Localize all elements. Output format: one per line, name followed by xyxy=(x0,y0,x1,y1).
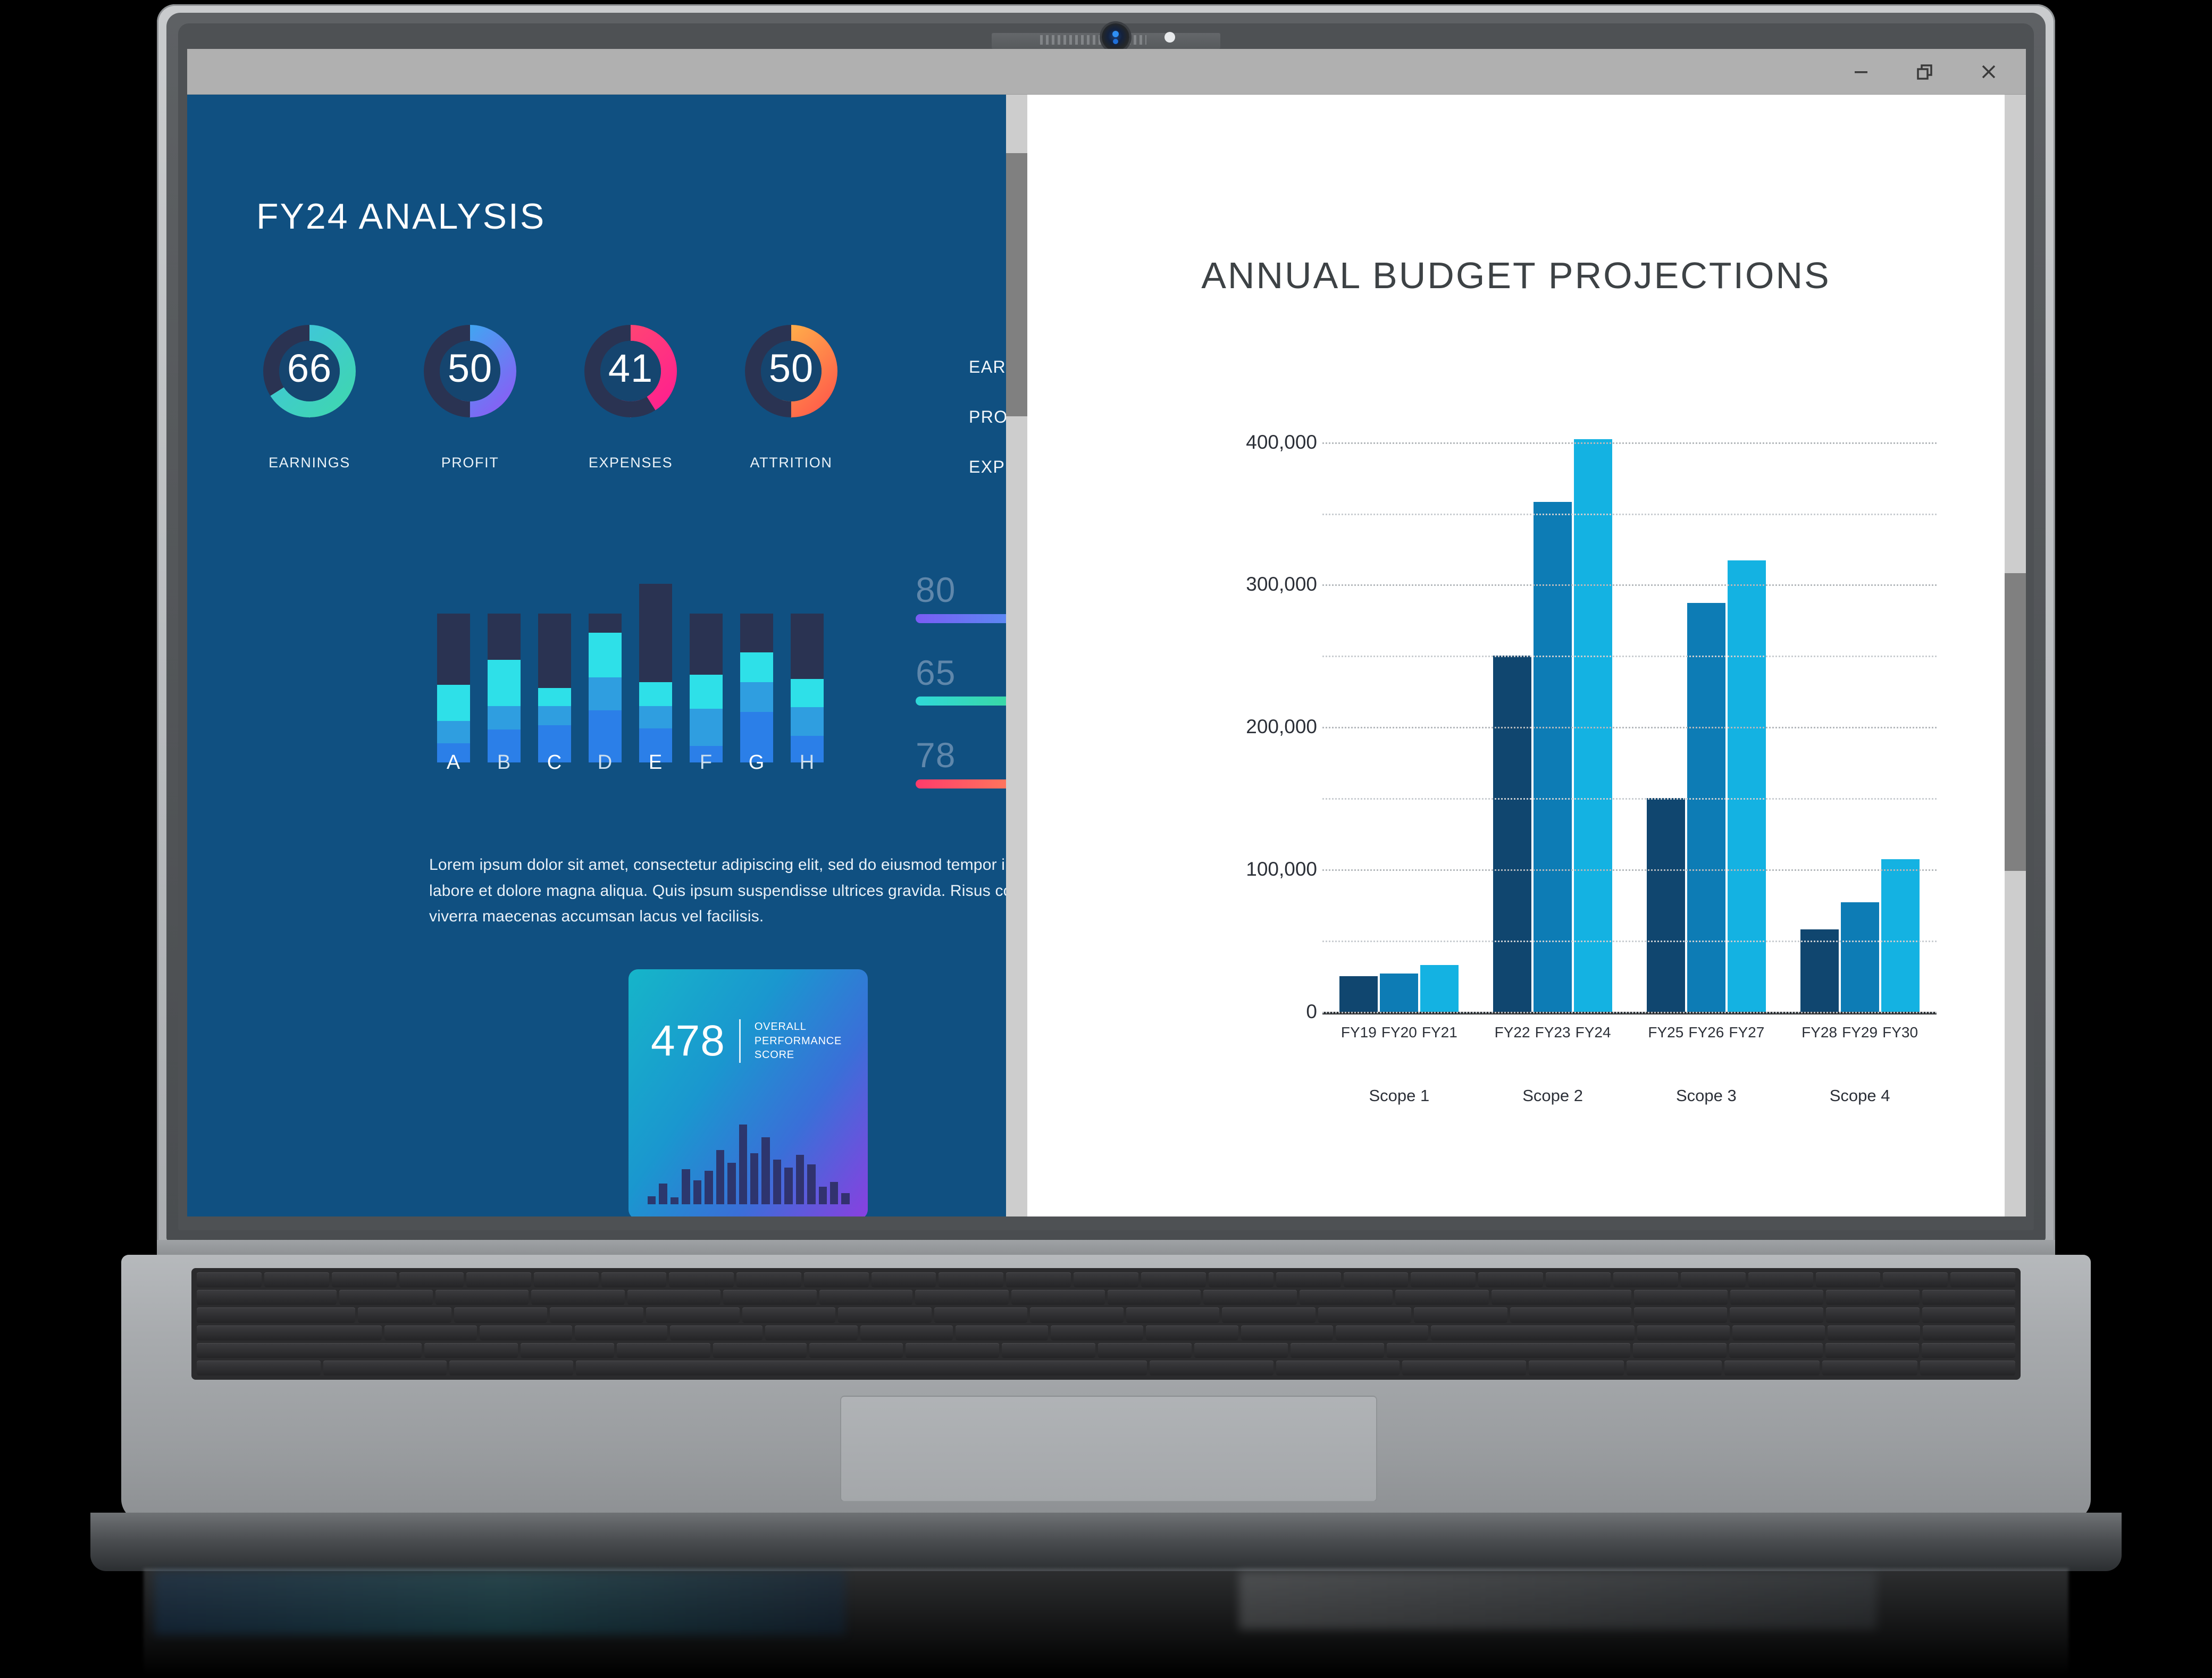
bar-FY24 xyxy=(1574,439,1612,1012)
score-sparkline xyxy=(648,1125,850,1204)
keyboard-key[interactable] xyxy=(1730,1290,1824,1305)
bar-group xyxy=(1476,414,1630,1012)
stacked-bar-column xyxy=(538,614,571,762)
stacked-bar-segment xyxy=(690,709,723,746)
keyboard-row xyxy=(197,1290,2015,1305)
gridline-major xyxy=(1322,1012,1937,1013)
metric-progress-bar xyxy=(916,697,1006,706)
keyboard-key[interactable] xyxy=(1141,1272,1206,1287)
keyboard-key[interactable] xyxy=(1816,1272,1881,1287)
laptop-screen: FY24 ANALYSIS 66EARNINGS50PROFIT41EXPENS… xyxy=(187,49,2026,1216)
keyboard-key[interactable] xyxy=(197,1343,422,1358)
keyboard-key[interactable] xyxy=(939,1272,1003,1287)
screenshot-stage: FY24 ANALYSIS 66EARNINGS50PROFIT41EXPENS… xyxy=(0,0,2212,1678)
keyboard-key[interactable] xyxy=(1108,1290,1201,1305)
keyboard-key[interactable] xyxy=(956,1325,1048,1340)
metric-bar-list: 806578 xyxy=(916,573,1006,821)
keyboard-key[interactable] xyxy=(713,1343,807,1358)
keyboard-key[interactable] xyxy=(197,1325,382,1340)
y-axis-tick-label: 400,000 xyxy=(1246,431,1317,454)
keyboard-key[interactable] xyxy=(1395,1290,1489,1305)
keyboard-key[interactable] xyxy=(1002,1343,1095,1358)
stacked-bar-segment xyxy=(639,706,672,728)
gridline-minor xyxy=(1322,514,1937,515)
bar-FY23 xyxy=(1534,502,1572,1012)
stacked-bar-column xyxy=(488,614,521,762)
keyboard-key[interactable] xyxy=(1634,1290,1728,1305)
stacked-bar-segment xyxy=(437,721,470,743)
keyboard-key[interactable] xyxy=(575,1325,667,1340)
keyboard-key[interactable] xyxy=(1126,1307,1220,1322)
gauge-attrition: 50ATTRITION xyxy=(733,318,850,471)
sparkline-bar xyxy=(761,1137,769,1204)
stacked-bar-segment xyxy=(589,677,622,710)
metric-value: 80 xyxy=(916,573,1006,607)
gridline-minor xyxy=(1322,798,1937,800)
sparkline-bar xyxy=(682,1169,690,1204)
keyboard-key[interactable] xyxy=(1431,1325,1635,1340)
keyboard-key[interactable] xyxy=(669,1272,734,1287)
sparkline-bar xyxy=(773,1160,781,1204)
keyboard-key[interactable] xyxy=(521,1343,614,1358)
x-tick-label: FY30 xyxy=(1881,1024,1920,1041)
sparkline-bar xyxy=(784,1168,792,1204)
x-tick-label: FY22 xyxy=(1493,1024,1531,1041)
keyboard-key[interactable] xyxy=(1478,1272,1543,1287)
x-axis-tick-labels: FY19FY20FY21FY22FY23FY24FY25FY26FY27FY28… xyxy=(1322,1024,1937,1041)
window-titlebar xyxy=(187,49,2026,95)
keyboard-key[interactable] xyxy=(1098,1343,1192,1358)
gridline-major xyxy=(1322,584,1937,586)
camera-indicator-led xyxy=(1164,32,1175,43)
stacked-bar-segment xyxy=(488,706,521,730)
x-tick-label: FY24 xyxy=(1574,1024,1612,1041)
keyboard-key[interactable] xyxy=(742,1307,836,1322)
stacked-bar-segment xyxy=(437,685,470,720)
stacked-bar-segment xyxy=(740,652,773,682)
x-tick-label: FY25 xyxy=(1647,1024,1685,1041)
gauge-ring-wrap: 50 xyxy=(738,318,844,443)
keyboard-key[interactable] xyxy=(1276,1272,1341,1287)
keyboard-row xyxy=(197,1272,2015,1287)
x-tick-label: FY23 xyxy=(1534,1024,1572,1041)
gauge-row: 66EARNINGS50PROFIT41EXPENSES50ATTRITION xyxy=(251,318,850,471)
gauge-ring-wrap: 50 xyxy=(417,318,523,443)
keyboard-key[interactable] xyxy=(1011,1290,1105,1305)
keyboard-key[interactable] xyxy=(1203,1290,1297,1305)
keyboard-key[interactable] xyxy=(384,1325,477,1340)
deck-scrollbar[interactable] xyxy=(1006,95,1027,1216)
stacked-bar-column xyxy=(639,584,672,762)
score-number: 478 xyxy=(651,1016,725,1066)
metric-progress-bar xyxy=(916,614,1006,623)
keyboard-key[interactable] xyxy=(1344,1272,1409,1287)
keyboard-key[interactable] xyxy=(1826,1290,1920,1305)
keyboard-key[interactable] xyxy=(646,1307,740,1322)
restore-button[interactable] xyxy=(1911,58,1939,86)
gridline-major xyxy=(1322,727,1937,728)
sparkline-bar xyxy=(807,1164,815,1204)
keyboard-key[interactable] xyxy=(1922,1307,2016,1322)
keyboard-key[interactable] xyxy=(872,1272,936,1287)
stacked-bar-column xyxy=(791,614,824,762)
stacked-bar-segment xyxy=(538,706,571,725)
gauge-label: PROFIT xyxy=(412,455,529,471)
gridline-minor xyxy=(1322,656,1937,657)
keyboard-key[interactable] xyxy=(1826,1307,1920,1322)
keyboard-key[interactable] xyxy=(323,1361,447,1375)
stacked-bar-label: E xyxy=(639,751,672,774)
score-header: 478 OVERALL PERFORMANCE SCORE xyxy=(651,1016,842,1066)
x-tick-label: FY26 xyxy=(1687,1024,1725,1041)
sparkline-bar xyxy=(727,1163,735,1204)
x-tick-label: FY27 xyxy=(1728,1024,1766,1041)
keyboard-key[interactable] xyxy=(264,1272,329,1287)
keyboard-key[interactable] xyxy=(550,1307,643,1322)
stacked-bar-segment xyxy=(791,679,824,707)
keyboard-key[interactable] xyxy=(1748,1272,1813,1287)
keyboard-key[interactable] xyxy=(358,1307,451,1322)
keyboard-key[interactable] xyxy=(197,1290,337,1305)
keyboard-key[interactable] xyxy=(1529,1361,1624,1375)
group-label: Scope 1 xyxy=(1322,1086,1476,1105)
gauge-label: ATTRITION xyxy=(733,455,850,471)
sparkline-bar xyxy=(739,1125,747,1204)
keyboard-key[interactable] xyxy=(576,1361,1147,1375)
keyboard-key[interactable] xyxy=(1194,1343,1288,1358)
slide-scrollbar-thumb[interactable] xyxy=(2005,573,2026,871)
sparkline-bar xyxy=(671,1197,678,1205)
keyboard-key[interactable] xyxy=(1150,1361,1273,1375)
keyboard-key[interactable] xyxy=(1510,1307,1631,1322)
deck-scrollbar-thumb[interactable] xyxy=(1006,153,1027,416)
keyboard-key[interactable] xyxy=(819,1290,913,1305)
stacked-bar-segment xyxy=(690,675,723,709)
gauge-profit: 50PROFIT xyxy=(412,318,529,471)
keyboard-key[interactable] xyxy=(934,1307,1028,1322)
score-caption-line-2: PERFORMANCE xyxy=(755,1034,842,1048)
y-axis-tick-label: 100,000 xyxy=(1246,858,1317,880)
keyboard-key[interactable] xyxy=(1414,1307,1507,1322)
gridline-minor xyxy=(1322,941,1937,942)
stacked-bar-segment xyxy=(488,660,521,706)
keyboard-key[interactable] xyxy=(1922,1290,2016,1305)
metric-item: 78 xyxy=(916,739,1006,788)
x-tick-group: FY25FY26FY27 xyxy=(1630,1024,1783,1041)
x-tick-label: FY29 xyxy=(1841,1024,1879,1041)
keyboard-key[interactable] xyxy=(1923,1325,2015,1340)
keyboard-key[interactable] xyxy=(1681,1272,1746,1287)
bar-FY21 xyxy=(1420,965,1459,1012)
stacked-bar-label: D xyxy=(589,751,622,774)
keyboard-key[interactable] xyxy=(1828,1325,1920,1340)
keyboard-key[interactable] xyxy=(1546,1272,1611,1287)
stacked-bar-label: G xyxy=(740,751,773,774)
x-tick-label: FY21 xyxy=(1420,1024,1459,1041)
stacked-bar-track xyxy=(740,614,773,652)
chart-title: ANNUAL BUDGET PROJECTIONS xyxy=(1027,254,2005,297)
gauge-expenses: 41EXPENSES xyxy=(572,318,689,471)
keyboard-row xyxy=(197,1361,2015,1375)
keyboard-key[interactable] xyxy=(736,1272,801,1287)
gridline-major xyxy=(1322,869,1937,871)
keyboard-key[interactable] xyxy=(1627,1361,1722,1375)
keyboard-key[interactable] xyxy=(480,1325,572,1340)
sparkline-bar xyxy=(716,1150,724,1204)
keyboard-key[interactable] xyxy=(1492,1290,1631,1305)
deck-paragraph-1: Lorem ipsum dolor sit amet, consectetur … xyxy=(429,852,1006,930)
stacked-bar-track xyxy=(791,614,824,679)
stacked-bar-segment xyxy=(538,688,571,706)
bar-FY20 xyxy=(1380,974,1418,1012)
bar-group xyxy=(1630,414,1783,1012)
minimize-button[interactable] xyxy=(1847,58,1875,86)
keyboard-key[interactable] xyxy=(399,1272,464,1287)
gauge-label: EXPENSES xyxy=(572,455,689,471)
stacked-bar-label: F xyxy=(690,751,723,774)
keyboard-key[interactable] xyxy=(617,1343,710,1358)
gauge-earnings: 66EARNINGS xyxy=(251,318,368,471)
x-axis-group-labels: Scope 1Scope 2Scope 3Scope 4 xyxy=(1322,1086,1937,1105)
keyboard-key[interactable] xyxy=(670,1325,763,1340)
sparkline-bar xyxy=(819,1187,827,1204)
bar-chart-plot: FY19FY20FY21FY22FY23FY24FY25FY26FY27FY28… xyxy=(1187,414,1947,1014)
keyboard-key[interactable] xyxy=(723,1290,817,1305)
keyboard-key[interactable] xyxy=(1222,1307,1316,1322)
stacked-bar-segment xyxy=(589,633,622,677)
desk-reflection-left xyxy=(154,1571,845,1635)
gauge-ring-wrap: 41 xyxy=(577,318,684,443)
restore-icon xyxy=(1913,60,1937,83)
stacked-bar-segment xyxy=(639,682,672,706)
keyboard-key[interactable] xyxy=(601,1272,666,1287)
sparkline-bar xyxy=(750,1153,758,1204)
keyboard-key[interactable] xyxy=(1300,1290,1393,1305)
keyboard-key[interactable] xyxy=(1241,1325,1334,1340)
y-axis-tick-label: 300,000 xyxy=(1246,573,1317,595)
keyboard-key[interactable] xyxy=(466,1272,531,1287)
mic-dots xyxy=(1040,35,1146,45)
score-caption-line-3: SCORE xyxy=(755,1048,842,1062)
keyboard-key[interactable] xyxy=(1006,1272,1071,1287)
stacked-bar-track xyxy=(538,614,571,688)
keyboard-key[interactable] xyxy=(1387,1343,1630,1358)
performance-score-card: 478 OVERALL PERFORMANCE SCORE xyxy=(629,969,868,1216)
stacked-bar-track xyxy=(437,614,470,685)
legend-label: EARNINGS xyxy=(969,357,1006,377)
keyboard-key[interactable] xyxy=(1950,1272,2015,1287)
keyboard-key[interactable] xyxy=(1336,1325,1428,1340)
metric-value: 78 xyxy=(916,739,1006,772)
keyboard-key[interactable] xyxy=(1730,1307,1823,1322)
x-tick-group: FY22FY23FY24 xyxy=(1476,1024,1630,1041)
bar-FY26 xyxy=(1687,603,1725,1012)
close-button[interactable] xyxy=(1975,58,2002,86)
keyboard-key[interactable] xyxy=(1318,1307,1412,1322)
metric-progress-bar xyxy=(916,779,1006,788)
gauge-label: EARNINGS xyxy=(251,455,368,471)
legend-item-earnings: EARNINGS xyxy=(969,342,1006,392)
keyboard-key[interactable] xyxy=(804,1272,869,1287)
keyboard-key[interactable] xyxy=(1732,1325,1825,1340)
bar-group xyxy=(1783,414,1937,1012)
keyboard-key[interactable] xyxy=(531,1290,625,1305)
stacked-bar-track xyxy=(639,584,672,682)
y-axis-tick-label: 200,000 xyxy=(1246,716,1317,738)
gauge-value: 50 xyxy=(738,346,844,391)
keyboard-key[interactable] xyxy=(534,1272,599,1287)
stacked-bar-column xyxy=(690,614,723,762)
keyboard-key[interactable] xyxy=(1822,1361,1917,1375)
sparkline-bar xyxy=(796,1155,804,1204)
base-front-lip xyxy=(90,1513,2122,1571)
keyboard-key[interactable] xyxy=(1402,1361,1526,1375)
y-axis-tick-label: 0 xyxy=(1306,1001,1317,1023)
gauge-value: 66 xyxy=(256,346,363,391)
stacked-bar-segment xyxy=(740,682,773,712)
keyboard-key[interactable] xyxy=(1030,1307,1124,1322)
keyboard-row xyxy=(197,1307,2015,1322)
sparkline-bar xyxy=(705,1171,713,1204)
keyboard-key[interactable] xyxy=(1825,1343,1919,1358)
keyboard-key[interactable] xyxy=(838,1307,932,1322)
keyboard-key[interactable] xyxy=(197,1307,355,1322)
sparkline-bar xyxy=(841,1193,849,1204)
bar-series xyxy=(1322,414,1937,1012)
keyboard-key[interactable] xyxy=(435,1290,529,1305)
gauge-value: 41 xyxy=(577,346,684,391)
legend-item-profit: PROFIT xyxy=(969,392,1006,442)
deck-title: FY24 ANALYSIS xyxy=(256,196,546,237)
stacked-bar-label: A xyxy=(437,751,470,774)
keyboard-key[interactable] xyxy=(454,1307,548,1322)
webcam-lens-glint xyxy=(1112,31,1119,37)
keyboard-key[interactable] xyxy=(627,1290,721,1305)
keyboard-key[interactable] xyxy=(765,1325,858,1340)
keyboard-key[interactable] xyxy=(1922,1343,2015,1358)
stacked-bar-label: C xyxy=(538,751,571,774)
keyboard-key[interactable] xyxy=(1411,1272,1476,1287)
keyboard-key[interactable] xyxy=(339,1290,433,1305)
keyboard-key[interactable] xyxy=(197,1361,321,1375)
keyboard-key[interactable] xyxy=(1146,1325,1238,1340)
score-caption: OVERALL PERFORMANCE SCORE xyxy=(755,1020,842,1062)
desk-reflection-right xyxy=(1239,1571,1877,1630)
keyboard-key[interactable] xyxy=(860,1325,953,1340)
sparkline-bar xyxy=(659,1184,667,1204)
group-label: Scope 2 xyxy=(1476,1086,1630,1105)
stacked-bar-column xyxy=(437,614,470,762)
keyboard-key[interactable] xyxy=(1634,1307,1728,1322)
metric-item: 65 xyxy=(916,656,1006,706)
keyboard-key[interactable] xyxy=(197,1272,262,1287)
gridline-major xyxy=(1322,442,1937,444)
stacked-bar-segment xyxy=(791,707,824,735)
keyboard-key[interactable] xyxy=(1613,1272,1678,1287)
sparkline-bar xyxy=(648,1196,656,1204)
legend-item-expenses: EXPENSES xyxy=(969,442,1006,492)
bar-FY27 xyxy=(1728,560,1766,1012)
score-divider xyxy=(739,1019,741,1063)
stacked-bar-label: H xyxy=(791,751,824,774)
stacked-bar-track xyxy=(488,614,521,660)
keyboard-key[interactable] xyxy=(1291,1343,1384,1358)
stacked-bar-column xyxy=(740,614,773,762)
x-tick-label: FY20 xyxy=(1380,1024,1418,1041)
minimize-icon xyxy=(1849,60,1873,83)
stacked-bar-column xyxy=(589,614,622,762)
keyboard[interactable] xyxy=(191,1268,2021,1380)
bar-FY19 xyxy=(1339,976,1378,1012)
stacked-bar-chart xyxy=(437,584,824,762)
close-icon xyxy=(1977,60,2000,83)
stacked-bar-label: B xyxy=(488,751,521,774)
sparkline-bar xyxy=(830,1182,838,1204)
sparkline-bar xyxy=(693,1180,701,1204)
keyboard-key[interactable] xyxy=(1051,1325,1143,1340)
keyboard-key[interactable] xyxy=(449,1361,573,1375)
bar-group xyxy=(1322,414,1476,1012)
touchpad[interactable] xyxy=(840,1396,1377,1502)
bar-FY25 xyxy=(1647,798,1685,1012)
stacked-bar-labels: ABCDEFGH xyxy=(437,751,824,774)
keyboard-key[interactable] xyxy=(1883,1272,1948,1287)
stacked-bar-track xyxy=(589,614,622,633)
keyboard-key[interactable] xyxy=(332,1272,397,1287)
chart-slide: ANNUAL BUDGET PROJECTIONS FY19FY20FY21FY… xyxy=(1027,95,2005,1216)
keyboard-key[interactable] xyxy=(1209,1272,1273,1287)
gauge-ring-wrap: 66 xyxy=(256,318,363,443)
legend-label: EXPENSES xyxy=(969,457,1006,477)
x-tick-group: FY28FY29FY30 xyxy=(1783,1024,1937,1041)
bar-FY30 xyxy=(1881,859,1920,1012)
window-controls xyxy=(1847,49,2002,95)
legend-list: EARNINGSPROFITEXPENSES xyxy=(969,342,1006,492)
keyboard-key[interactable] xyxy=(1920,1361,2015,1375)
keyboard-key[interactable] xyxy=(1724,1361,1820,1375)
metric-item: 80 xyxy=(916,573,1006,623)
metric-value: 65 xyxy=(916,656,1006,690)
stacked-bar-track xyxy=(690,614,723,675)
keyboard-key[interactable] xyxy=(809,1343,903,1358)
bar-FY29 xyxy=(1841,902,1879,1012)
webcam-icon xyxy=(1102,23,1129,51)
keyboard-row xyxy=(197,1325,2015,1340)
keyboard-key[interactable] xyxy=(915,1290,1009,1305)
group-label: Scope 4 xyxy=(1783,1086,1937,1105)
gauge-value: 50 xyxy=(417,346,523,391)
x-tick-label: FY19 xyxy=(1339,1024,1378,1041)
keyboard-key[interactable] xyxy=(1637,1325,1730,1340)
legend-label: PROFIT xyxy=(969,407,1006,427)
x-tick-label: FY28 xyxy=(1800,1024,1839,1041)
keyboard-key[interactable] xyxy=(424,1343,518,1358)
keyboard-key[interactable] xyxy=(1729,1343,1823,1358)
x-tick-group: FY19FY20FY21 xyxy=(1322,1024,1476,1041)
keyboard-key[interactable] xyxy=(1276,1361,1400,1375)
keyboard-key[interactable] xyxy=(906,1343,999,1358)
dashboard-deck-panel: FY24 ANALYSIS 66EARNINGS50PROFIT41EXPENS… xyxy=(187,95,1006,1216)
group-label: Scope 3 xyxy=(1630,1086,1783,1105)
slide-scrollbar[interactable] xyxy=(2005,95,2026,1216)
keyboard-key[interactable] xyxy=(1074,1272,1138,1287)
score-caption-line-1: OVERALL xyxy=(755,1020,842,1034)
bar-FY22 xyxy=(1493,656,1531,1012)
keyboard-key[interactable] xyxy=(1633,1343,1727,1358)
keyboard-row xyxy=(197,1343,2015,1358)
